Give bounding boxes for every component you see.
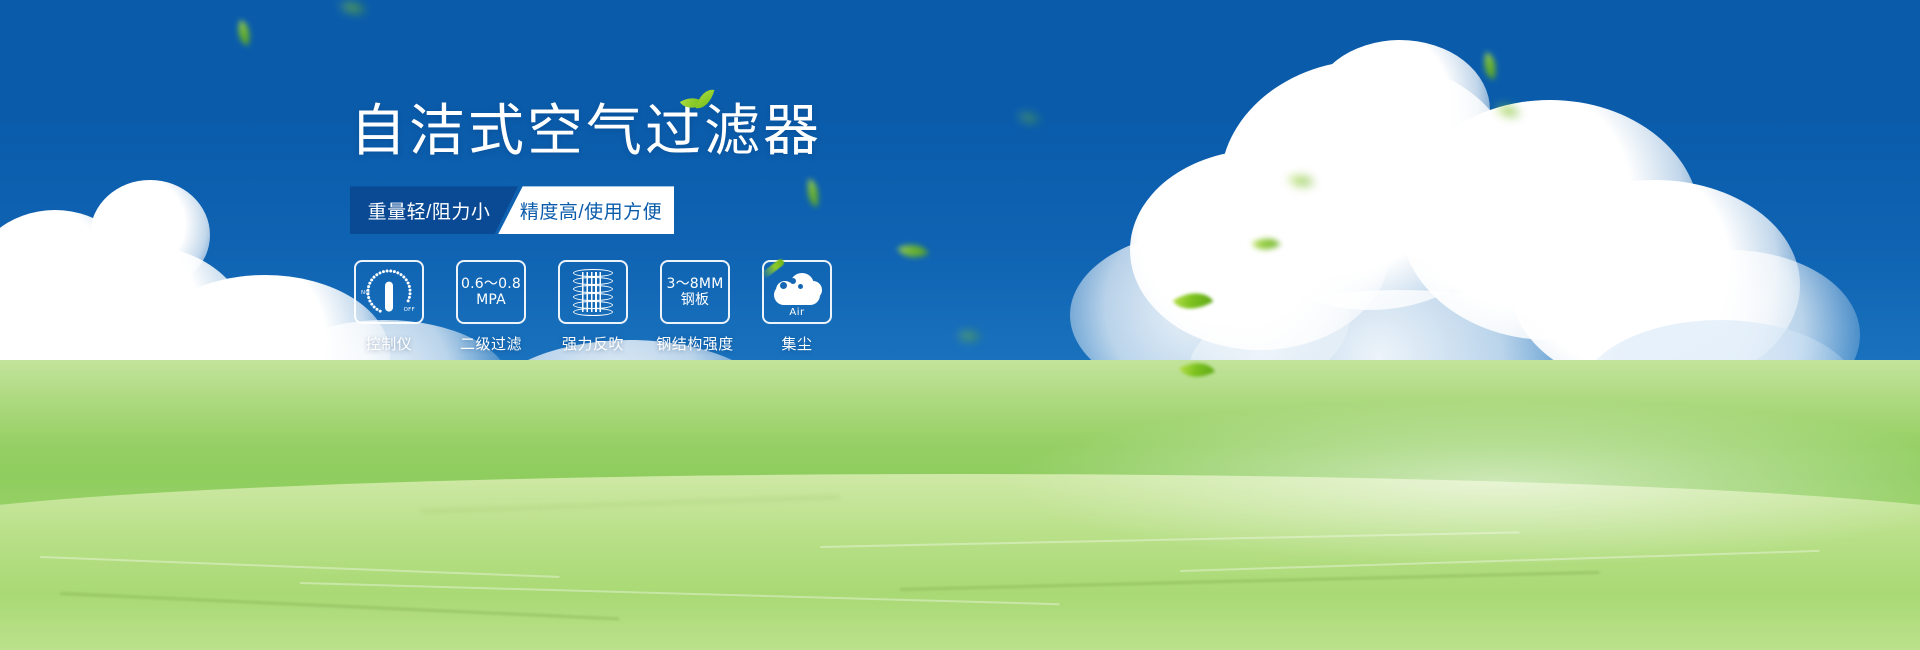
feature-steel-strength[interactable]: 3～8MM 钢板 钢结构强度	[656, 260, 734, 354]
feature-box	[558, 260, 628, 324]
grass-field	[0, 360, 1920, 650]
steel-thickness: 3～8MM	[667, 276, 724, 292]
air-cloud-icon: Air	[768, 269, 826, 315]
gauge-label-off: OFF	[404, 307, 415, 313]
pressure-value: 0.6～0.8	[461, 276, 521, 292]
tab-precision-convenience[interactable]: 精度高/使用方便	[498, 186, 674, 234]
coil-filter-icon	[571, 268, 615, 316]
tab-weight-resistance[interactable]: 重量轻/阻力小	[350, 186, 518, 234]
feature-box: 3～8MM 钢板	[660, 260, 730, 324]
feature-two-stage-filter[interactable]: 0.6～0.8 MPA 二级过滤	[452, 260, 530, 354]
feature-caption: 集尘	[781, 333, 812, 354]
title-leaf-icon	[682, 88, 726, 118]
gauge-label-no: NO	[361, 290, 370, 296]
feature-tabs: 重量轻/阻力小 精度高/使用方便	[350, 186, 674, 234]
gauge-icon: NO OFF	[360, 266, 418, 318]
banner-content: 自洁式空气过滤器 重量轻/阻力小 精度高/使用方便	[350, 100, 1070, 354]
feature-controller[interactable]: NO OFF 控制仪	[350, 260, 428, 354]
feature-caption: 强力反吹	[562, 333, 624, 354]
feature-caption: 钢结构强度	[656, 333, 734, 354]
feature-dust-collection[interactable]: Air 集尘	[758, 260, 836, 354]
leaf-streak-icon	[761, 258, 786, 280]
grass-hill-front	[0, 474, 1920, 650]
feature-caption: 二级过滤	[460, 333, 522, 354]
air-label: Air	[768, 307, 826, 318]
pressure-text: 0.6～0.8 MPA	[461, 276, 521, 308]
feature-box: NO OFF	[354, 260, 424, 324]
feature-box: Air	[762, 260, 832, 324]
steel-material: 钢板	[681, 292, 709, 308]
feature-caption: 控制仪	[366, 333, 413, 354]
feature-strong-blowback[interactable]: 强力反吹	[554, 260, 632, 354]
product-hero-banner: 自洁式空气过滤器 重量轻/阻力小 精度高/使用方便	[0, 0, 1920, 650]
feature-box: 0.6～0.8 MPA	[456, 260, 526, 324]
steel-text: 3～8MM 钢板	[667, 276, 724, 308]
pressure-unit: MPA	[476, 292, 506, 308]
feature-icon-row: NO OFF 控制仪 0.6～0.8 MPA 二级过滤	[350, 260, 1070, 354]
gauge-needle-icon	[385, 282, 393, 312]
